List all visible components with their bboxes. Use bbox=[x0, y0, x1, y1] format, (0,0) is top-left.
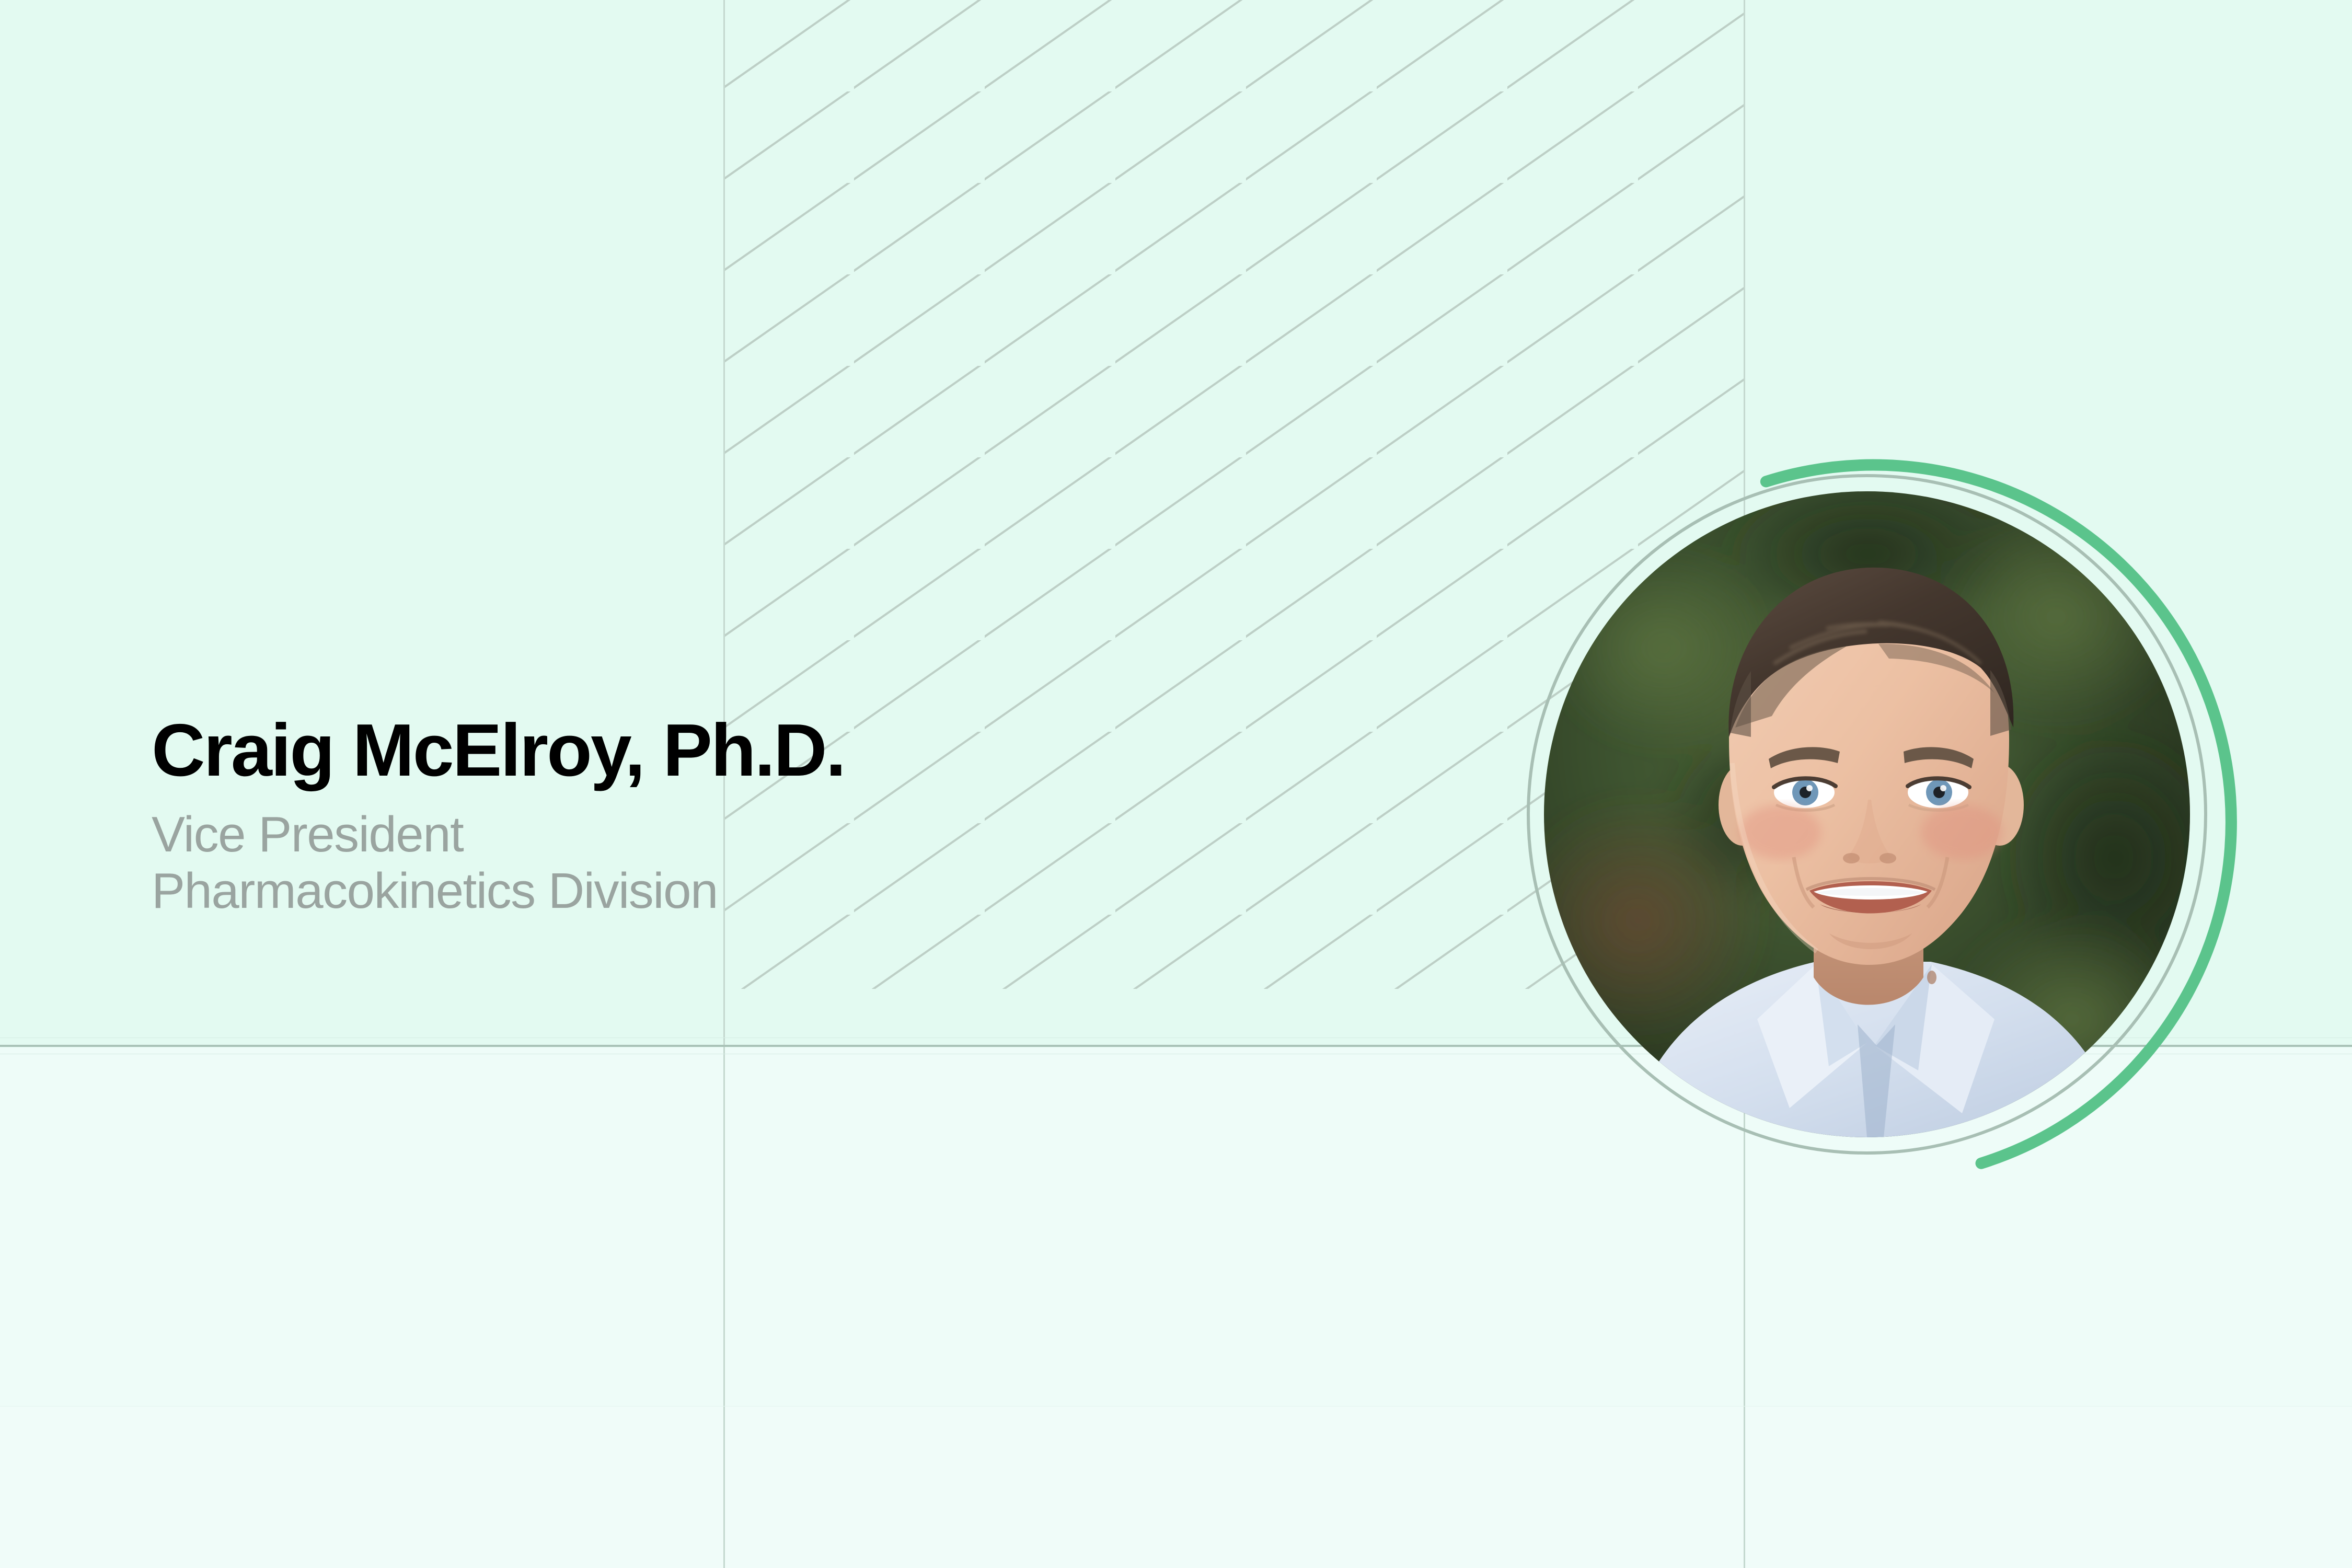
speaker-role: Vice President Pharmacokinetics Division bbox=[152, 806, 1511, 919]
page-title: Craig McElroy, Ph.D. bbox=[152, 713, 1511, 788]
avatar-photo[interactable] bbox=[1544, 491, 2190, 1137]
speaker-role-line-1: Vice President bbox=[152, 806, 1511, 863]
horizontal-guide-soft-bottom bbox=[0, 1406, 2352, 1406]
speaker-card-canvas: Craig McElroy, Ph.D. Vice President Phar… bbox=[0, 0, 2352, 1568]
speaker-role-line-2: Pharmacokinetics Division bbox=[152, 863, 1511, 919]
speaker-text-block: Craig McElroy, Ph.D. Vice President Phar… bbox=[152, 713, 1511, 919]
background-band-lower-secondary bbox=[0, 1406, 2352, 1568]
